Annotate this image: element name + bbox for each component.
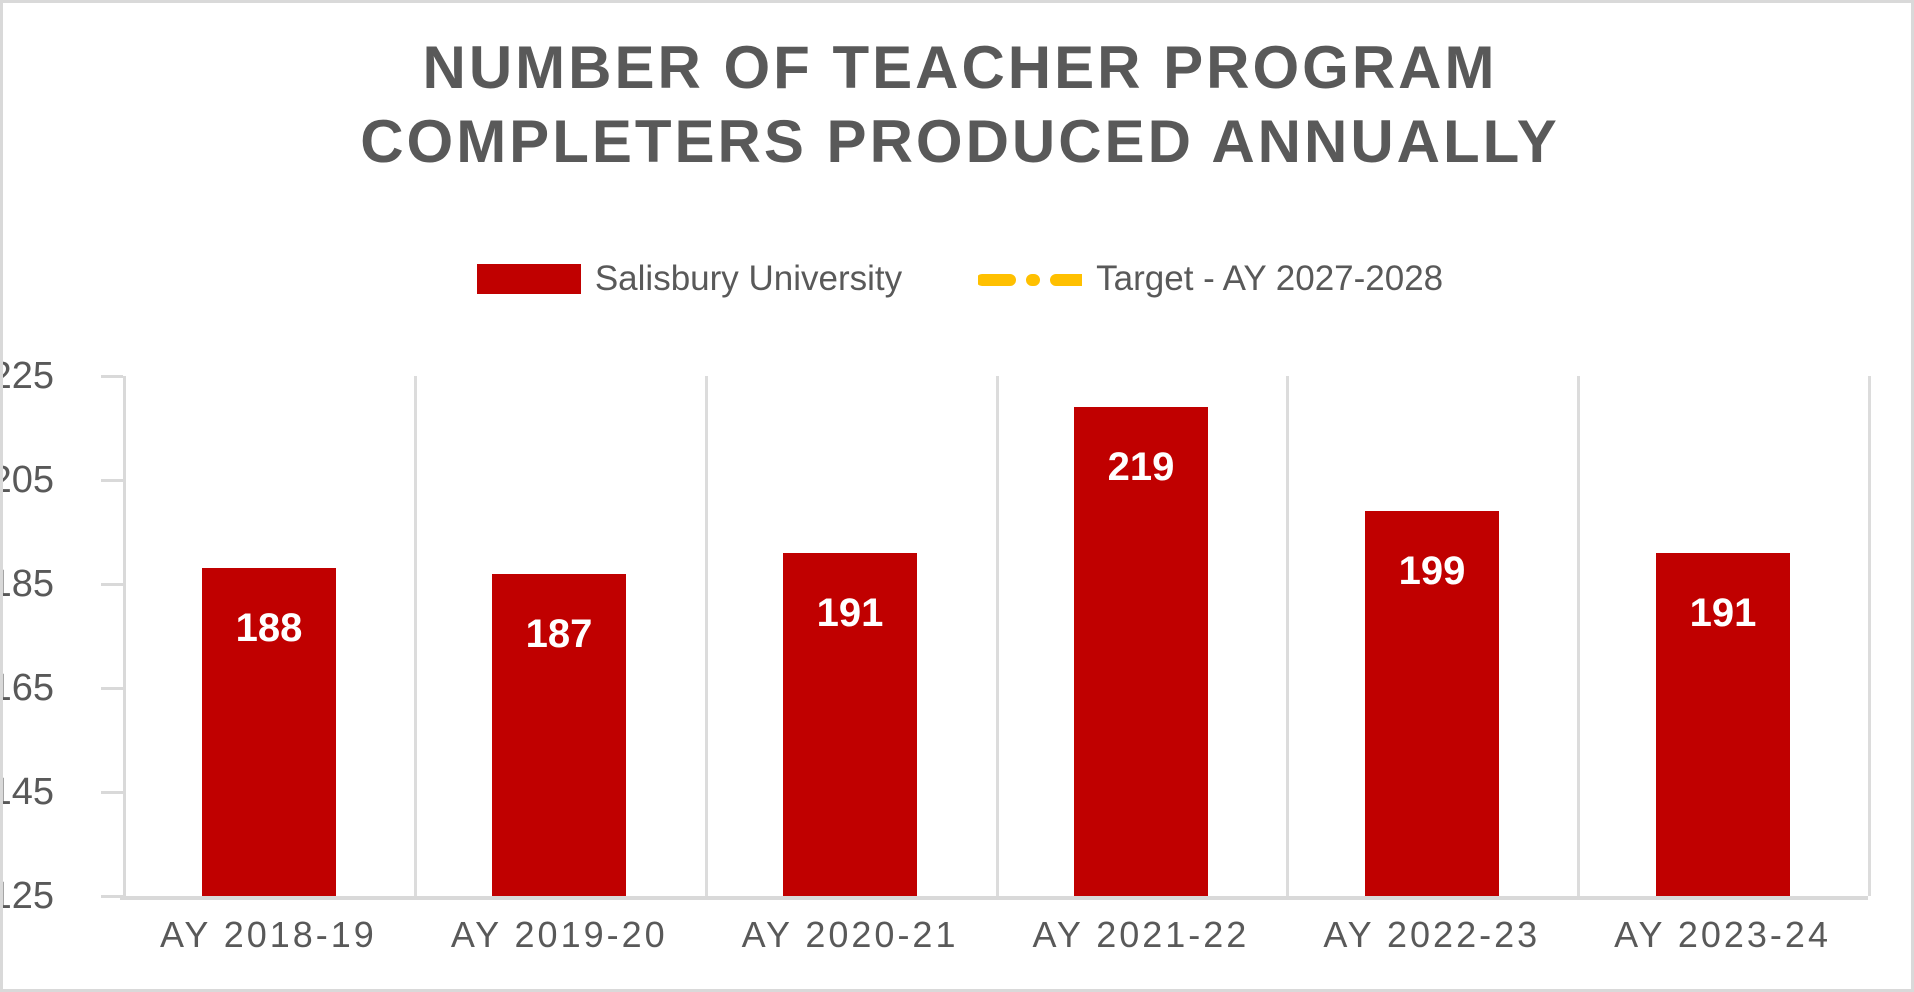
y-axis-tick-label: 205 (0, 461, 54, 499)
bar[interactable]: 219 (1074, 407, 1208, 896)
legend-dash-dot-line-icon (978, 264, 1082, 294)
x-axis-line (120, 896, 1868, 900)
bar-value-label: 219 (1074, 447, 1208, 487)
legend-bar-swatch-icon (477, 264, 581, 294)
bar[interactable]: 187 (492, 574, 626, 896)
x-axis-label: AY 2021-22 (995, 913, 1286, 963)
x-axis-label: AY 2020-21 (705, 913, 996, 963)
y-axis-tick-label: 225 (0, 357, 54, 395)
bars-layer: 188187191219199191 (123, 376, 1868, 896)
y-axis-tick-label: 125 (0, 877, 54, 915)
chart-container: NUMBER OF TEACHER PROGRAM COMPLETERS PRO… (0, 0, 1914, 992)
y-axis-tick (101, 479, 123, 482)
chart-legend: Salisbury University Target - AY 2027-20… (3, 261, 1914, 297)
y-axis-tick (101, 375, 123, 378)
y-axis-tick-label: 185 (0, 565, 54, 603)
x-axis-label: AY 2022-23 (1286, 913, 1577, 963)
bar[interactable]: 199 (1365, 511, 1499, 896)
chart-title: NUMBER OF TEACHER PROGRAM COMPLETERS PRO… (3, 31, 1914, 179)
x-axis-labels: AY 2018-19AY 2019-20AY 2020-21AY 2021-22… (123, 913, 1868, 963)
x-axis-label: AY 2019-20 (414, 913, 705, 963)
bar[interactable]: 191 (1656, 553, 1790, 896)
bar-value-label: 188 (202, 608, 336, 648)
x-axis-label: AY 2023-24 (1577, 913, 1868, 963)
bar[interactable]: 191 (783, 553, 917, 896)
bar-value-label: 187 (492, 614, 626, 654)
legend-item-target[interactable]: Target - AY 2027-2028 (978, 261, 1443, 297)
legend-item-label: Salisbury University (595, 261, 902, 297)
y-axis-tick (101, 687, 123, 690)
y-axis-tick (101, 895, 123, 898)
legend-item-label: Target - AY 2027-2028 (1096, 261, 1443, 297)
bar-value-label: 191 (783, 593, 917, 633)
bar-value-label: 191 (1656, 593, 1790, 633)
bar[interactable]: 188 (202, 568, 336, 896)
category-separator (1868, 376, 1871, 896)
y-axis-tick (101, 791, 123, 794)
legend-item-salisbury-university[interactable]: Salisbury University (477, 261, 902, 297)
bar-value-label: 199 (1365, 551, 1499, 591)
y-axis-tick-label: 165 (0, 669, 54, 707)
y-axis-tick-label: 145 (0, 773, 54, 811)
x-axis-label: AY 2018-19 (123, 913, 414, 963)
plot-area: 225205185165145125 188187191219199191 (123, 376, 1868, 896)
y-axis-tick (101, 583, 123, 586)
